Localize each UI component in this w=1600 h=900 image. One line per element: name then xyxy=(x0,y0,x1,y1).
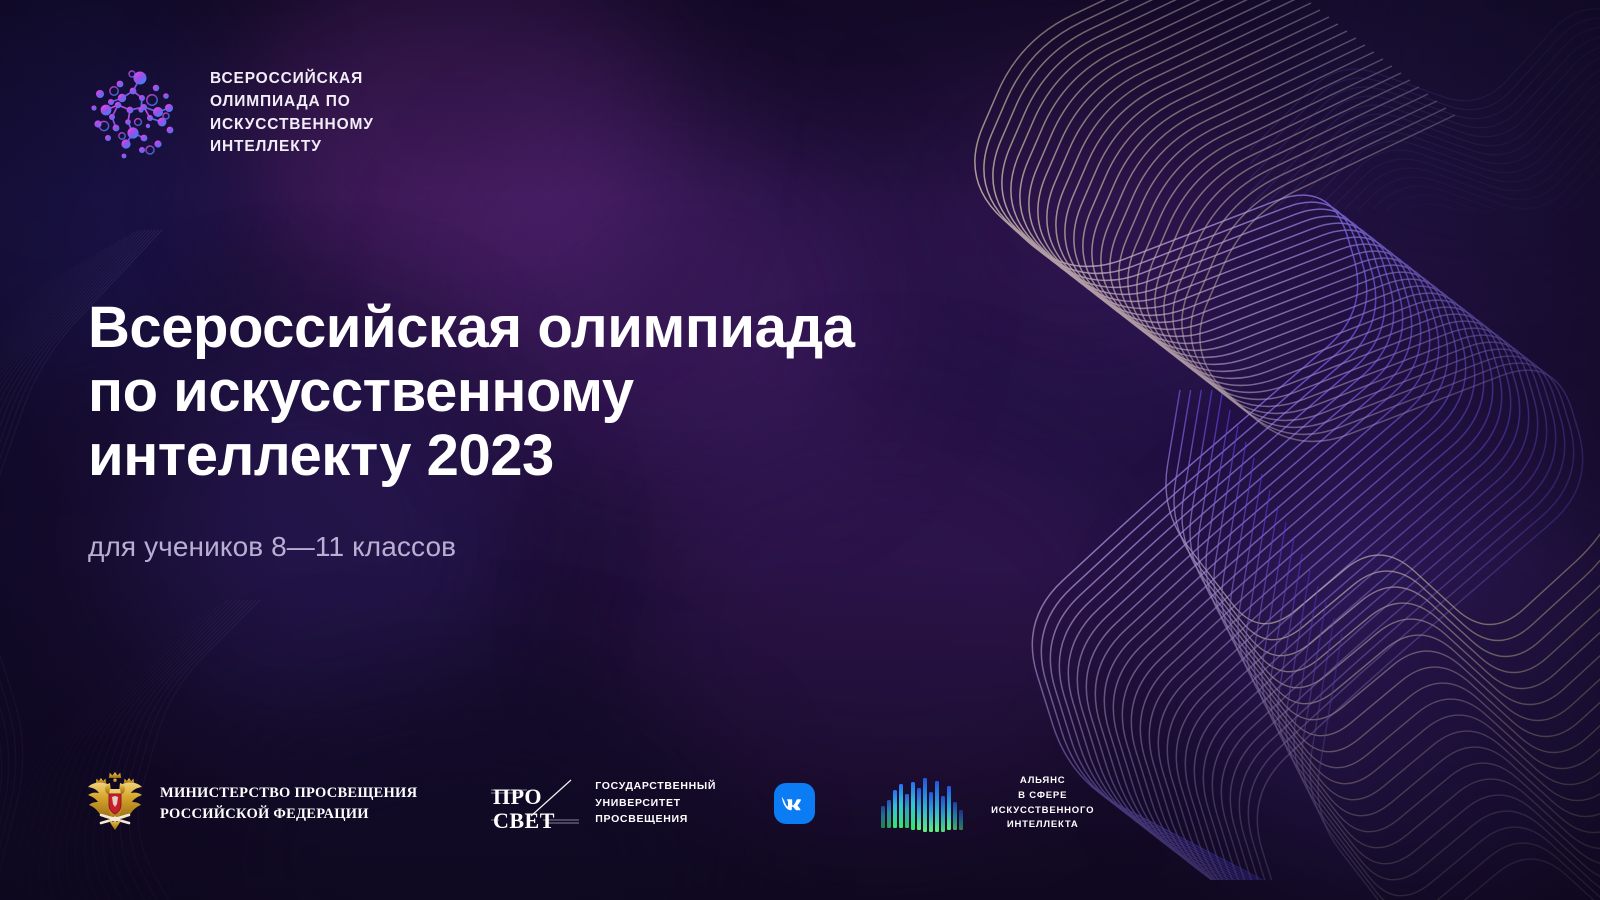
partner-logo-ministry-of-education[interactable]: МИНИСТЕРСТВО ПРОСВЕЩЕНИЯ РОССИЙСКОЙ ФЕДЕ… xyxy=(84,769,417,838)
alliance-wordmark: АЛЬЯНС В СФЕРЕ ИСКУССТВЕННОГО ИНТЕЛЛЕКТА xyxy=(991,775,1094,832)
brand-line: ВСЕРОССИЙСКАЯ xyxy=(210,69,374,89)
hero-subtitle: для учеников 8—11 классов xyxy=(88,531,988,563)
brand-line: ИСКУССТВЕННОМУ xyxy=(210,115,374,135)
partner-line: МИНИСТЕРСТВО ПРОСВЕЩЕНИЯ xyxy=(160,784,417,803)
alliance-waveform-icon xyxy=(879,776,975,832)
partner-logo-ai-alliance[interactable]: АЛЬЯНС В СФЕРЕ ИСКУССТВЕННОГО ИНТЕЛЛЕКТА xyxy=(879,775,1094,832)
headline-line: интеллекту 2023 xyxy=(88,424,988,488)
ministry-wordmark: МИНИСТЕРСТВО ПРОСВЕЩЕНИЯ РОССИЙСКОЙ ФЕДЕ… xyxy=(160,784,417,823)
vk-logo-icon xyxy=(774,783,815,824)
hero-block: Всероссийская олимпиада по искусственном… xyxy=(88,296,988,563)
partner-line: ИНТЕЛЛЕКТА xyxy=(1007,819,1079,832)
russian-double-headed-eagle-icon xyxy=(84,769,146,838)
brand-line: ОЛИМПИАДА ПО xyxy=(210,92,374,112)
partner-logo-strip: МИНИСТЕРСТВО ПРОСВЕЩЕНИЯ РОССИЙСКОЙ ФЕДЕ… xyxy=(84,769,1094,838)
svg-text:СВЕТ: СВЕТ xyxy=(493,808,555,833)
brand-line: ИНТЕЛЛЕКТУ xyxy=(210,137,374,157)
page-title: Всероссийская олимпиада по искусственном… xyxy=(88,296,988,487)
partner-line: РОССИЙСКОЙ ФЕДЕРАЦИИ xyxy=(160,805,417,824)
brand-lockup[interactable]: ВСЕРОССИЙСКАЯ ОЛИМПИАДА ПО ИСКУССТВЕННОМ… xyxy=(78,58,374,168)
partner-logo-prosvet-university[interactable]: ПРО СВЕТ ГОСУДАРСТВЕННЫЙ УНИВЕРСИТЕТ ПРО… xyxy=(489,776,716,832)
partner-logo-vk[interactable] xyxy=(774,783,815,824)
prosvet-subtext: ГОСУДАРСТВЕННЫЙ УНИВЕРСИТЕТ ПРОСВЕЩЕНИЯ xyxy=(595,780,716,827)
partner-line: ПРОСВЕЩЕНИЯ xyxy=(595,813,716,827)
svg-text:ПРО: ПРО xyxy=(493,784,542,809)
headline-line: Всероссийская олимпиада xyxy=(88,296,988,360)
partner-line: В СФЕРЕ xyxy=(1018,790,1067,803)
poster-canvas: ВСЕРОССИЙСКАЯ ОЛИМПИАДА ПО ИСКУССТВЕННОМ… xyxy=(0,0,1600,900)
partner-line: ИСКУССТВЕННОГО xyxy=(991,805,1094,818)
brand-wordmark: ВСЕРОССИЙСКАЯ ОЛИМПИАДА ПО ИСКУССТВЕННОМ… xyxy=(210,69,374,156)
partner-line: ГОСУДАРСТВЕННЫЙ xyxy=(595,780,716,794)
partner-line: УНИВЕРСИТЕТ xyxy=(595,797,716,811)
prosvet-wordmark-icon: ПРО СВЕТ xyxy=(489,776,581,832)
neural-network-circle-icon xyxy=(78,58,188,168)
headline-line: по искусственному xyxy=(88,360,988,424)
partner-line: АЛЬЯНС xyxy=(1020,775,1066,788)
